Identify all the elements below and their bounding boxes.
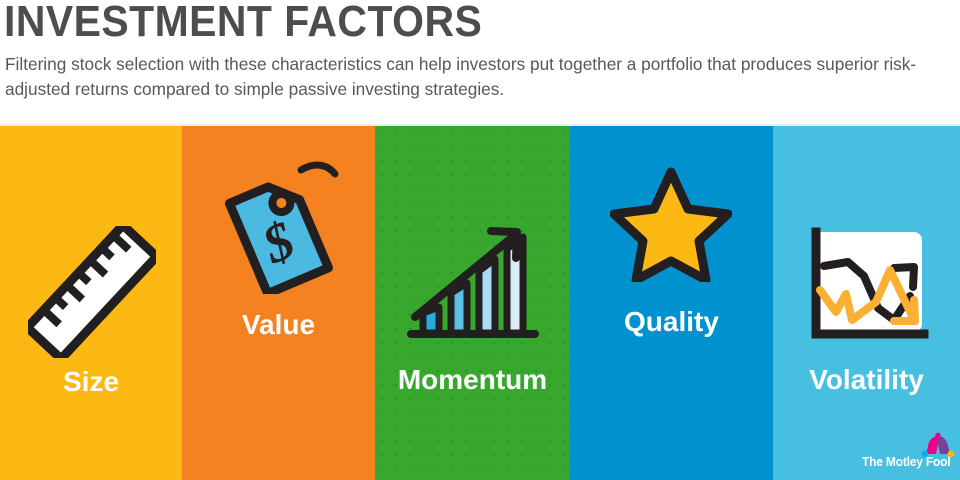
factor-column-size[interactable]: Size — [0, 126, 182, 480]
logo-text: The Motley Fool — [862, 455, 950, 469]
page-subtitle: Filtering stock selection with these cha… — [5, 52, 939, 102]
star-icon — [610, 164, 732, 287]
factor-columns: Size $ Value — [0, 126, 960, 480]
factor-column-volatility[interactable]: Volatility — [773, 126, 960, 480]
infographic-root: INVESTMENT FACTORS Filtering stock selec… — [0, 0, 960, 480]
factor-label-value: Value — [182, 309, 375, 341]
factor-column-momentum[interactable]: Momentum — [375, 126, 570, 480]
page-title: INVESTMENT FACTORS — [4, 0, 482, 46]
factor-label-momentum: Momentum — [375, 364, 570, 396]
factor-label-size: Size — [0, 366, 182, 398]
volatility-chart-icon — [802, 224, 930, 349]
header: INVESTMENT FACTORS Filtering stock selec… — [0, 0, 960, 126]
motley-fool-logo[interactable]: The Motley Fool — [862, 434, 954, 474]
rising-bar-chart-icon — [403, 221, 543, 356]
price-tag-icon: $ — [215, 154, 345, 299]
ruler-icon — [28, 226, 156, 363]
factor-column-value[interactable]: $ Value — [182, 126, 375, 480]
factor-label-quality: Quality — [570, 306, 773, 338]
factor-label-volatility: Volatility — [773, 364, 960, 396]
factor-column-quality[interactable]: Quality — [570, 126, 773, 480]
